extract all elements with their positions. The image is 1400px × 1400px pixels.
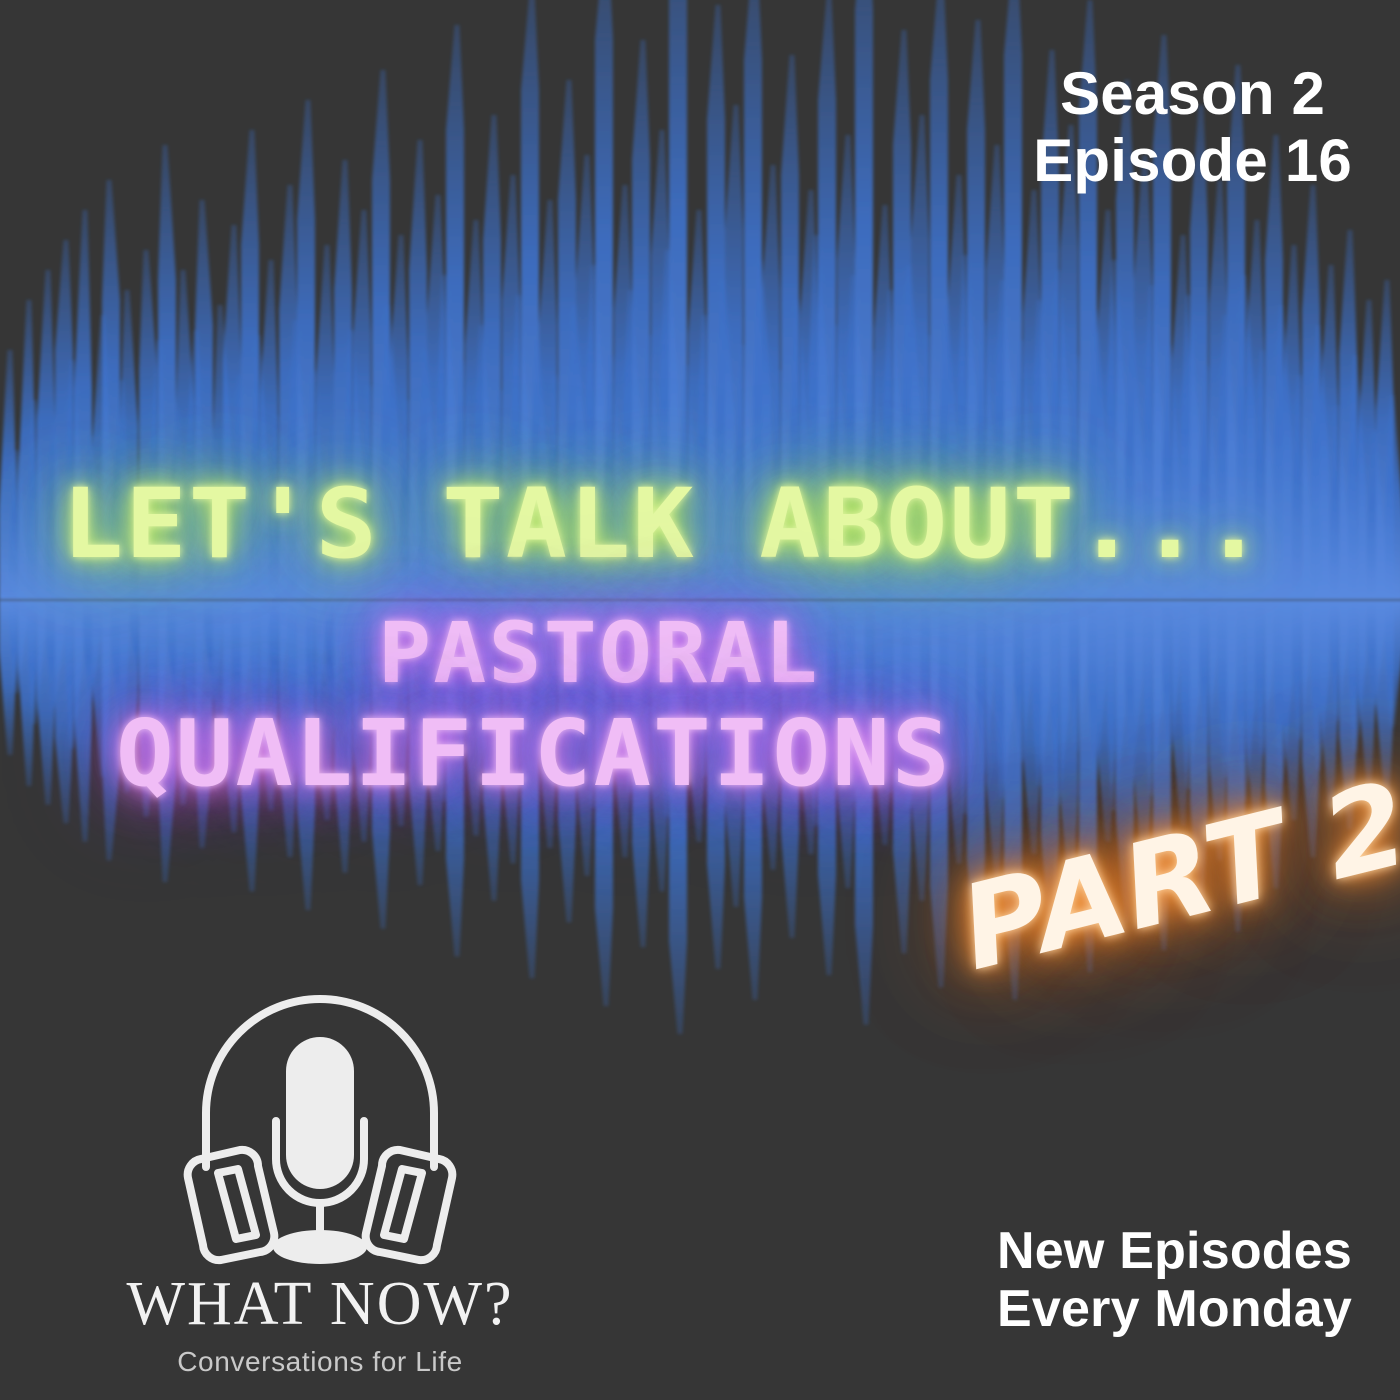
part-badge: PART 2 xyxy=(948,756,1400,997)
schedule-block: New Episodes Every Monday xyxy=(997,1222,1352,1338)
season-episode-block: Season 2 Episode 16 xyxy=(1033,60,1352,194)
title-line-2: PASTORAL xyxy=(378,604,820,702)
microphone-headphones-icon xyxy=(170,973,470,1273)
logo-tagline: Conversations for Life xyxy=(120,1346,520,1378)
schedule-line-1: New Episodes xyxy=(997,1222,1352,1280)
show-logo: WHAT NOW? Conversations for Life xyxy=(120,973,520,1378)
schedule-line-2: Every Monday xyxy=(997,1280,1352,1338)
logo-wordmark: WHAT NOW? xyxy=(120,1269,520,1340)
podcast-cover-art: Season 2 Episode 16 LET'S TALK ABOUT... … xyxy=(0,0,1400,1400)
title-line-3: QUALIFICATIONS xyxy=(116,700,952,807)
season-label: Season 2 xyxy=(1033,60,1352,127)
episode-label: Episode 16 xyxy=(1033,127,1352,194)
title-line-1: LET'S TALK ABOUT... xyxy=(62,468,1266,580)
